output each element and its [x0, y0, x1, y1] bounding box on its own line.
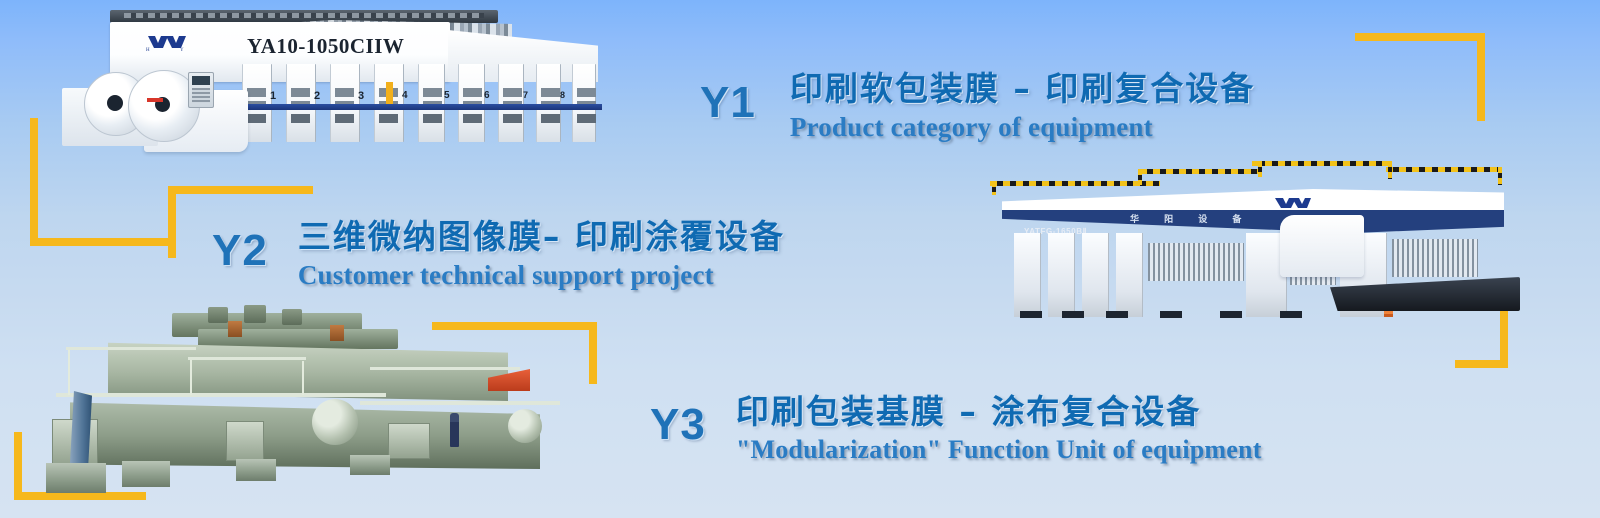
coater-side-cabinet	[226, 421, 264, 461]
coater-floor-base	[236, 459, 276, 481]
svg-text:H: H	[146, 48, 150, 52]
press-brand-logo-icon: H Y	[142, 32, 188, 52]
bracket-bottom-left-horizontal	[14, 492, 146, 500]
text-block-y3: Y3 印刷包装基膜 – 涂布复合设备 "Modularization" Func…	[650, 385, 1262, 465]
machine-photo-coating-line	[30, 303, 575, 493]
press-unit-number: 8	[560, 90, 565, 100]
coater-blower-unit	[282, 309, 302, 325]
block-code-y3: Y3	[650, 400, 706, 450]
coater-walkway	[56, 393, 386, 397]
coater-lower-frame	[70, 395, 540, 469]
coater-blower-unit	[244, 305, 266, 323]
block-subtitle-en-y1: Product category of equipment	[790, 112, 1255, 143]
bracket-top-left-vertical	[30, 118, 38, 246]
bracket-top-right-vertical	[1477, 33, 1485, 121]
bracket-top-right-horizontal	[1355, 33, 1485, 41]
press-blue-stripe	[214, 104, 602, 110]
press-red-indicator	[147, 98, 163, 102]
block-title-cn-y1: 印刷软包装膜 – 印刷复合设备	[790, 62, 1255, 110]
press-unit-number: 3	[358, 90, 364, 102]
press-unit-number: 5	[444, 90, 450, 101]
bracket-mid-center-vertical	[589, 322, 597, 384]
coater-handrail	[68, 347, 70, 395]
coater-floor-base	[46, 463, 106, 493]
coater-handrail-top	[188, 357, 306, 360]
press-model-label: YA10-1050CIIW	[247, 34, 404, 59]
coater-operator-figure	[450, 413, 459, 447]
laminator-main-cabinet	[1280, 215, 1364, 277]
machine-photo-printing-press: H Y YA10-1050CIIW 1 2 3 4 5 6 7 8	[62, 6, 592, 171]
block-title-cn-y3: 印刷包装基膜 – 涂布复合设备	[736, 385, 1262, 433]
coater-duct-joint	[228, 321, 242, 337]
coater-floor-base	[122, 461, 170, 487]
bracket-mid-left-vertical	[168, 186, 176, 258]
bracket-bottom-left-vertical	[14, 432, 22, 500]
press-unit-number: 7	[523, 90, 528, 100]
coater-handrail-top	[66, 347, 196, 350]
coater-duct-joint	[330, 325, 344, 341]
svg-text:Y: Y	[180, 48, 184, 52]
coater-walkway	[360, 401, 560, 405]
press-unit-number: 4	[402, 90, 408, 101]
block-subtitle-en-y2: Customer technical support project	[298, 260, 785, 291]
press-unit-number: 2	[314, 90, 320, 102]
block-title-cn-y2: 三维微纳图像膜– 印刷涂覆设备	[298, 210, 785, 258]
laminator-brand-cn: 华 阳 设 备	[1130, 212, 1252, 225]
press-unit-number: 6	[484, 90, 490, 101]
press-unit-number: 1	[270, 90, 276, 102]
text-block-y1: Y1 印刷软包装膜 – 印刷复合设备 Product category of e…	[700, 62, 1255, 143]
laminator-support-feet	[1020, 311, 1460, 331]
press-control-panel	[188, 72, 214, 108]
coater-roller-drum	[508, 409, 542, 443]
coater-roller-drum	[312, 399, 358, 445]
coater-handrail	[190, 357, 192, 395]
machine-photo-laminator: 华 阳 设 备 YATFG-1650BⅡ	[980, 155, 1520, 355]
block-code-y1: Y1	[700, 78, 756, 128]
bracket-top-left-horizontal	[30, 238, 170, 246]
coater-floor-base	[350, 455, 390, 475]
coater-blower-unit	[208, 307, 228, 323]
bracket-mid-left-horizontal	[168, 186, 313, 194]
laminator-safety-railing	[990, 159, 1502, 193]
coater-handrail	[302, 361, 304, 395]
coater-side-cabinet	[388, 423, 430, 459]
text-block-y2: Y2 三维微纳图像膜– 印刷涂覆设备 Customer technical su…	[212, 210, 785, 291]
block-subtitle-en-y3: "Modularization" Function Unit of equipm…	[736, 435, 1262, 465]
coater-handrail-top	[370, 367, 520, 370]
bracket-bottom-right-horizontal	[1455, 360, 1508, 368]
laminator-brand-logo-icon	[1272, 195, 1312, 211]
block-code-y2: Y2	[212, 226, 268, 276]
product-banner: H Y YA10-1050CIIW 1 2 3 4 5 6 7 8	[0, 0, 1600, 518]
